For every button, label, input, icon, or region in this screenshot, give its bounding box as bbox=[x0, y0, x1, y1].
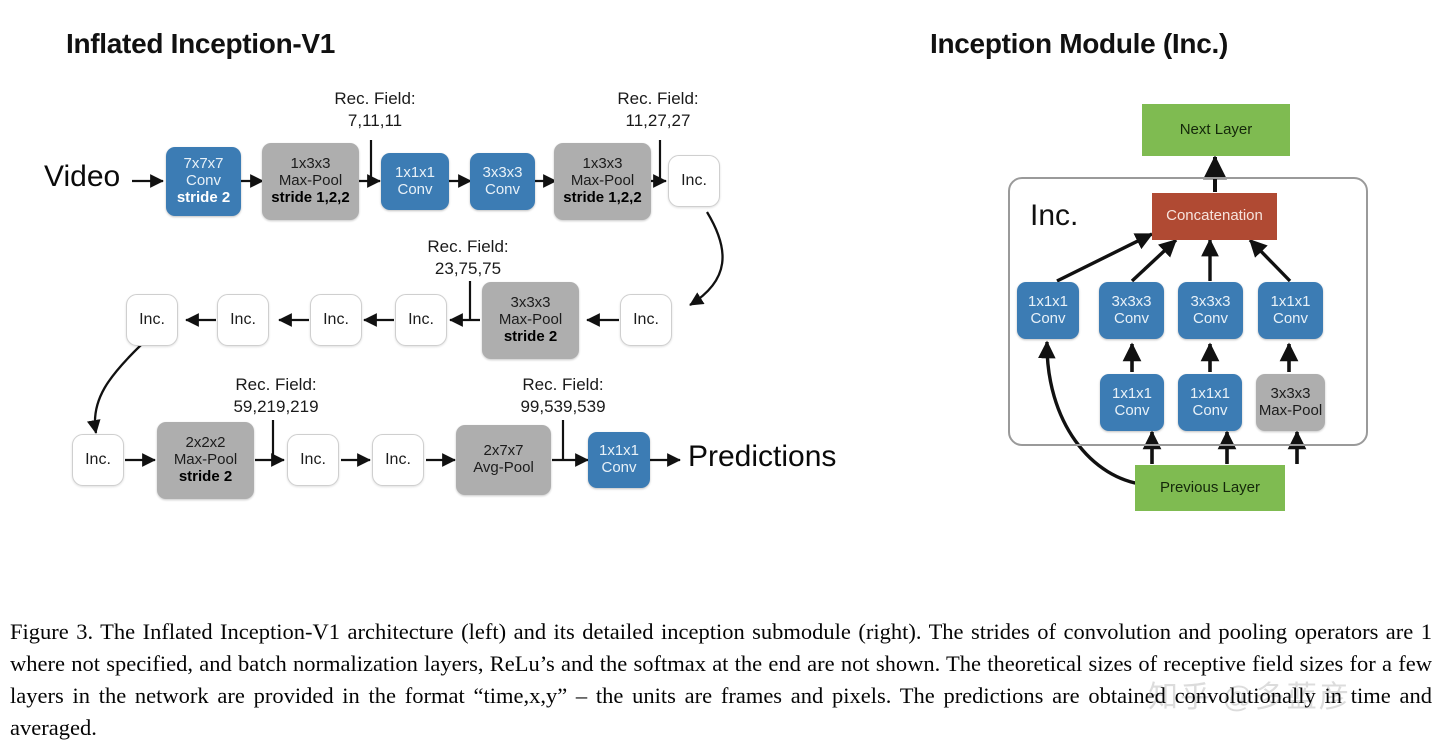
node-branch-conv-3x3x3-a[interactable]: 3x3x3 Conv bbox=[1099, 282, 1164, 339]
node-line: Inc. bbox=[408, 311, 434, 329]
node-branch-conv-1x1x1-left[interactable]: 1x1x1 Conv bbox=[1017, 282, 1079, 339]
node-line: 3x3x3 bbox=[510, 295, 550, 312]
node-conv-7x7x7[interactable]: 7x7x7 Conv stride 2 bbox=[166, 147, 241, 216]
node-line: 1x1x1 bbox=[599, 443, 639, 460]
node-conv-1x1x1-a[interactable]: 1x1x1 Conv bbox=[381, 153, 449, 210]
node-line: Conv bbox=[397, 182, 432, 199]
rec-field-annotation-3: Rec. Field: 23,75,75 bbox=[427, 236, 508, 280]
rec-field-annotation-5: Rec. Field: 99,539,539 bbox=[520, 374, 605, 418]
node-conv-3x3x3[interactable]: 3x3x3 Conv bbox=[470, 153, 535, 210]
node-line-stride: stride 2 bbox=[179, 469, 232, 486]
node-line: Conv bbox=[1273, 311, 1308, 328]
node-line: 1x1x1 bbox=[1028, 294, 1068, 311]
inception-module-label: Inc. bbox=[1030, 199, 1078, 233]
rec-field-value: 23,75,75 bbox=[427, 258, 508, 280]
node-line: Conv bbox=[1192, 403, 1227, 420]
node-line: Inc. bbox=[85, 451, 111, 469]
node-line: Max-Pool bbox=[571, 173, 634, 190]
node-maxpool-1x3x3-b[interactable]: 1x3x3 Max-Pool stride 1,2,2 bbox=[554, 143, 651, 220]
node-line: 2x2x2 bbox=[185, 435, 225, 452]
node-line: 1x1x1 bbox=[1190, 386, 1230, 403]
rec-field-caption: Rec. Field: bbox=[617, 88, 698, 110]
node-line-stride: stride 1,2,2 bbox=[271, 190, 349, 207]
node-line: Concatenation bbox=[1166, 208, 1263, 225]
node-line: Avg-Pool bbox=[473, 460, 534, 477]
node-line: 3x3x3 bbox=[1111, 294, 1151, 311]
rec-field-caption: Rec. Field: bbox=[233, 374, 318, 396]
node-next-layer[interactable]: Next Layer bbox=[1142, 104, 1290, 156]
node-line: Max-Pool bbox=[499, 312, 562, 329]
node-line: 2x7x7 bbox=[483, 443, 523, 460]
node-line: 3x3x3 bbox=[1270, 386, 1310, 403]
node-line: Inc. bbox=[385, 451, 411, 469]
node-maxpool-2x2x2[interactable]: 2x2x2 Max-Pool stride 2 bbox=[157, 422, 254, 499]
node-line: Conv bbox=[601, 460, 636, 477]
input-label-video: Video bbox=[44, 160, 120, 194]
node-line: Inc. bbox=[139, 311, 165, 329]
node-reduce-conv-1x1x1-a[interactable]: 1x1x1 Conv bbox=[1100, 374, 1164, 431]
node-line: 1x1x1 bbox=[1270, 294, 1310, 311]
node-line: Inc. bbox=[300, 451, 326, 469]
node-branch-maxpool-3x3x3[interactable]: 3x3x3 Max-Pool bbox=[1256, 374, 1325, 431]
node-inc-3[interactable]: Inc. bbox=[217, 294, 269, 346]
node-line: Max-Pool bbox=[279, 173, 342, 190]
rec-field-value: 11,27,27 bbox=[617, 110, 698, 132]
node-line: Conv bbox=[1114, 403, 1149, 420]
node-line: 1x3x3 bbox=[582, 156, 622, 173]
node-line: Previous Layer bbox=[1160, 480, 1260, 497]
node-inc-8[interactable]: Inc. bbox=[287, 434, 339, 486]
node-previous-layer[interactable]: Previous Layer bbox=[1135, 465, 1285, 511]
node-line: 3x3x3 bbox=[482, 165, 522, 182]
node-inc-7[interactable]: Inc. bbox=[72, 434, 124, 486]
node-line: Conv bbox=[186, 173, 221, 190]
node-line: 1x1x1 bbox=[1112, 386, 1152, 403]
node-line: Conv bbox=[1030, 311, 1065, 328]
page-title-inception-module: Inception Module (Inc.) bbox=[930, 28, 1228, 60]
node-line: 1x1x1 bbox=[395, 165, 435, 182]
node-line: Conv bbox=[1114, 311, 1149, 328]
node-inc-2[interactable]: Inc. bbox=[126, 294, 178, 346]
rec-field-annotation-1: Rec. Field: 7,11,11 bbox=[334, 88, 415, 132]
node-line: 7x7x7 bbox=[183, 156, 223, 173]
node-concatenation[interactable]: Concatenation bbox=[1152, 193, 1277, 240]
node-line-stride: stride 2 bbox=[177, 190, 230, 207]
node-line: Conv bbox=[485, 182, 520, 199]
node-inc-5[interactable]: Inc. bbox=[395, 294, 447, 346]
node-branch-conv-1x1x1-right[interactable]: 1x1x1 Conv bbox=[1258, 282, 1323, 339]
page-title-inflated-inception: Inflated Inception-V1 bbox=[66, 28, 335, 60]
node-line: 1x3x3 bbox=[290, 156, 330, 173]
rec-field-annotation-4: Rec. Field: 59,219,219 bbox=[233, 374, 318, 418]
node-line: Inc. bbox=[633, 311, 659, 329]
rec-field-value: 59,219,219 bbox=[233, 396, 318, 418]
rec-field-caption: Rec. Field: bbox=[334, 88, 415, 110]
figure-caption: Figure 3. The Inflated Inception-V1 arch… bbox=[10, 616, 1432, 744]
rec-field-annotation-2: Rec. Field: 11,27,27 bbox=[617, 88, 698, 132]
node-line: Max-Pool bbox=[1259, 403, 1322, 420]
node-line: Inc. bbox=[323, 311, 349, 329]
node-line: Conv bbox=[1193, 311, 1228, 328]
node-line: Inc. bbox=[681, 172, 707, 190]
node-line: 3x3x3 bbox=[1190, 294, 1230, 311]
output-label-predictions: Predictions bbox=[688, 440, 836, 474]
rec-field-value: 7,11,11 bbox=[334, 110, 415, 132]
rec-field-value: 99,539,539 bbox=[520, 396, 605, 418]
node-inc-9[interactable]: Inc. bbox=[372, 434, 424, 486]
rec-field-caption: Rec. Field: bbox=[520, 374, 605, 396]
node-line: Inc. bbox=[230, 311, 256, 329]
node-inc-6[interactable]: Inc. bbox=[620, 294, 672, 346]
node-line: Max-Pool bbox=[174, 452, 237, 469]
node-branch-conv-3x3x3-b[interactable]: 3x3x3 Conv bbox=[1178, 282, 1243, 339]
node-line-stride: stride 1,2,2 bbox=[563, 190, 641, 207]
node-line: Next Layer bbox=[1180, 122, 1253, 139]
node-maxpool-3x3x3[interactable]: 3x3x3 Max-Pool stride 2 bbox=[482, 282, 579, 359]
node-reduce-conv-1x1x1-b[interactable]: 1x1x1 Conv bbox=[1178, 374, 1242, 431]
node-inc-1[interactable]: Inc. bbox=[668, 155, 720, 207]
node-line-stride: stride 2 bbox=[504, 329, 557, 346]
node-maxpool-1x3x3-a[interactable]: 1x3x3 Max-Pool stride 1,2,2 bbox=[262, 143, 359, 220]
node-avgpool-2x7x7[interactable]: 2x7x7 Avg-Pool bbox=[456, 425, 551, 495]
node-inc-4[interactable]: Inc. bbox=[310, 294, 362, 346]
rec-field-caption: Rec. Field: bbox=[427, 236, 508, 258]
node-conv-1x1x1-b[interactable]: 1x1x1 Conv bbox=[588, 432, 650, 488]
